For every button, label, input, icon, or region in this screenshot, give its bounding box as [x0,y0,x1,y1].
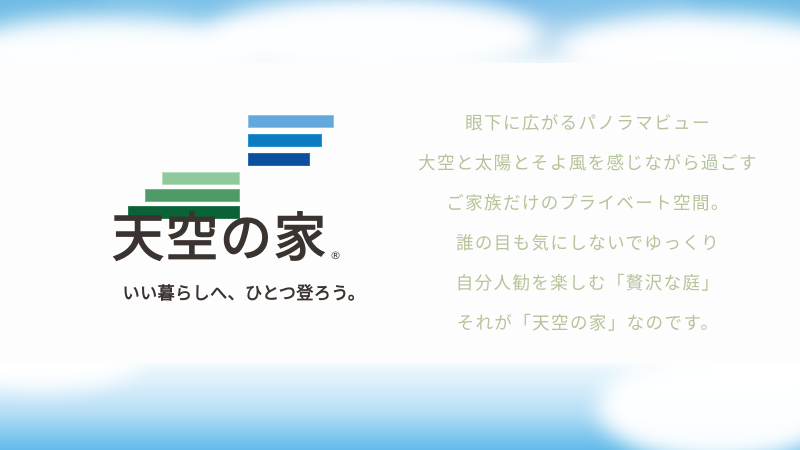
copy-line: ご家族だけのプライベート空間。 [400,183,776,223]
slide-canvas: 天空の家 ® いい暮らしへ、ひとつ登ろう。 眼下に広がるパノラマビュー 大空と太… [0,0,800,450]
brand-name: 天空の家 [112,213,328,265]
cloud-blue-corner [688,0,800,48]
cloud-white-bottom-right [598,352,800,450]
brand-tagline: いい暮らしへ、ひとつ登ろう。 [113,279,375,304]
copy-line: 誰の目も気にしないでゆっくり [400,223,776,263]
stair-step-bars-icon [112,111,374,216]
cloud-blue-top-right [520,0,730,22]
registered-trademark-icon: ® [330,249,341,262]
bar-green-light [162,172,240,185]
brand-logo: 天空の家 ® いい暮らしへ、ひとつ登ろう。 [112,111,374,216]
bar-blue-light [248,115,334,128]
cloud-blue-top-left-2 [86,0,326,26]
marketing-copy: 眼下に広がるパノラマビュー 大空と太陽とそよ風を感じながら過ごす ご家族だけのプ… [400,103,776,343]
bar-green-mid [145,189,240,202]
bar-blue-mid [248,134,322,147]
copy-line: 眼下に広がるパノラマビュー [400,103,776,143]
brand-wordmark: 天空の家 ® [112,213,374,265]
content-card: 天空の家 ® いい暮らしへ、ひとつ登ろう。 眼下に広がるパノラマビュー 大空と太… [0,63,800,363]
cloud-blue-top-left [0,0,220,54]
copy-line: 大空と太陽とそよ風を感じながら過ごす [400,143,776,183]
bar-blue-dark [248,153,310,166]
copy-line: 自分人勧を楽しむ「贅沢な庭」 [400,263,776,303]
copy-line: それが「天空の家」なのです。 [400,303,776,343]
